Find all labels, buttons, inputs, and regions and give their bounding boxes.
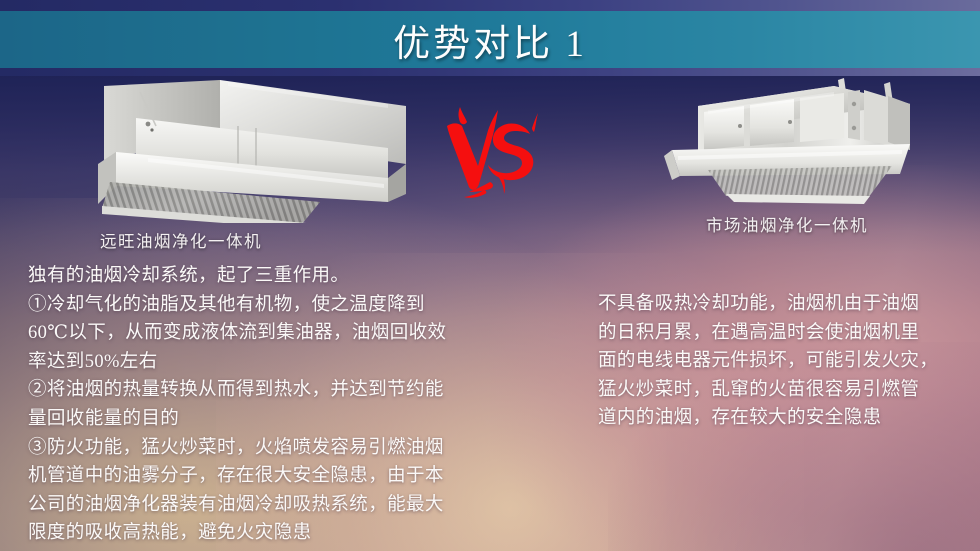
vs-icon [446,104,538,200]
caption-left-product: 远旺油烟净化一体机 [100,228,262,252]
body-text-left: 独有的油烟冷却系统，起了三重作用。 ①冷却气化的油脂及其他有机物，使之温度降到 … [28,262,504,548]
product-image-right [648,70,948,210]
caption-right-product: 市场油烟净化一体机 [706,212,868,236]
header-top-strip [0,0,980,11]
body-text-right: 不具备吸热冷却功能，油烟机由于油烟 的日积月累，在遇高温时会使油烟机里 面的电线… [598,290,970,433]
header-banner: 优势对比 1 [0,0,980,71]
page-title: 优势对比 1 [0,11,980,68]
slide-canvas: 优势对比 1 [0,0,980,551]
product-image-left [88,78,428,223]
